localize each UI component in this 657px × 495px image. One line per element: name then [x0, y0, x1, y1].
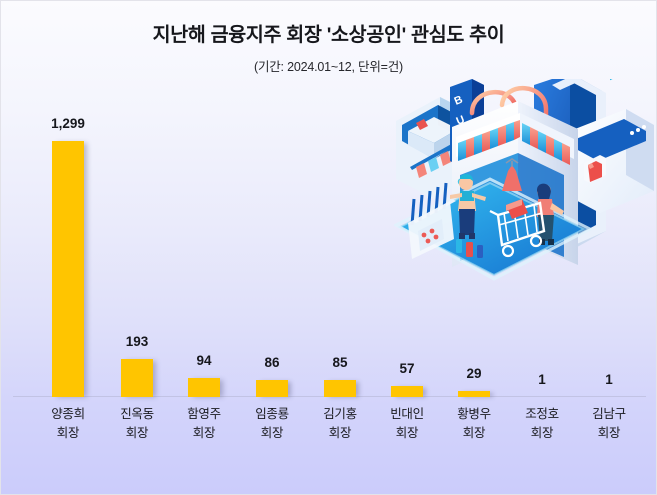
category-label-name: 임종룡	[233, 405, 311, 424]
bar-value-label: 1	[509, 372, 575, 387]
category-label-title: 회장	[165, 424, 243, 443]
bar-column	[35, 1, 101, 397]
category-label-name: 양종희	[29, 405, 107, 424]
bar-value-label: 193	[104, 334, 170, 349]
bar-group: 1조정호회장	[509, 1, 575, 495]
bar-column	[509, 1, 575, 397]
bar[interactable]	[391, 386, 423, 397]
bar-column	[239, 1, 305, 397]
category-label-title: 회장	[29, 424, 107, 443]
bar-column	[171, 1, 237, 397]
category-label: 임종룡회장	[233, 405, 311, 443]
bar[interactable]	[188, 378, 220, 397]
category-label-name: 김남구	[570, 405, 648, 424]
category-label-title: 회장	[570, 424, 648, 443]
bar[interactable]	[324, 380, 356, 397]
bar-value-label: 94	[171, 353, 237, 368]
category-label-title: 회장	[435, 424, 513, 443]
bar[interactable]	[52, 141, 84, 397]
bar[interactable]	[256, 380, 288, 397]
category-label-name: 함영주	[165, 405, 243, 424]
bar-group: 57빈대인회장	[374, 1, 440, 495]
bar-value-label: 1	[576, 372, 642, 387]
bar-value-label: 1,299	[35, 116, 101, 131]
category-label-name: 황병우	[435, 405, 513, 424]
bar-column	[374, 1, 440, 397]
category-label: 김남구회장	[570, 405, 648, 443]
category-label: 함영주회장	[165, 405, 243, 443]
category-label: 양종희회장	[29, 405, 107, 443]
bar-column	[441, 1, 507, 397]
bar-value-label: 86	[239, 355, 305, 370]
bar-column	[576, 1, 642, 397]
bar-value-label: 85	[307, 355, 373, 370]
bar[interactable]	[121, 359, 153, 397]
chart-canvas: 지난해 금융지주 회장 '소상공인' 관심도 추이 (기간: 2024.01~1…	[0, 0, 657, 495]
bar-column	[307, 1, 373, 397]
bar-group: 1김남구회장	[576, 1, 642, 495]
bar-value-label: 57	[374, 361, 440, 376]
bar-group: 94함영주회장	[171, 1, 237, 495]
bar-group: 1,299양종희회장	[35, 1, 101, 495]
bar-group: 193진옥동회장	[104, 1, 170, 495]
chart-plot-area: 1,299양종희회장193진옥동회장94함영주회장86임종룡회장85김기홍회장5…	[1, 1, 657, 495]
category-label-title: 회장	[233, 424, 311, 443]
bar[interactable]	[458, 391, 490, 397]
category-label: 황병우회장	[435, 405, 513, 443]
bar-value-label: 29	[441, 366, 507, 381]
bar-group: 85김기홍회장	[307, 1, 373, 495]
bar-group: 29황병우회장	[441, 1, 507, 495]
bar-group: 86임종룡회장	[239, 1, 305, 495]
